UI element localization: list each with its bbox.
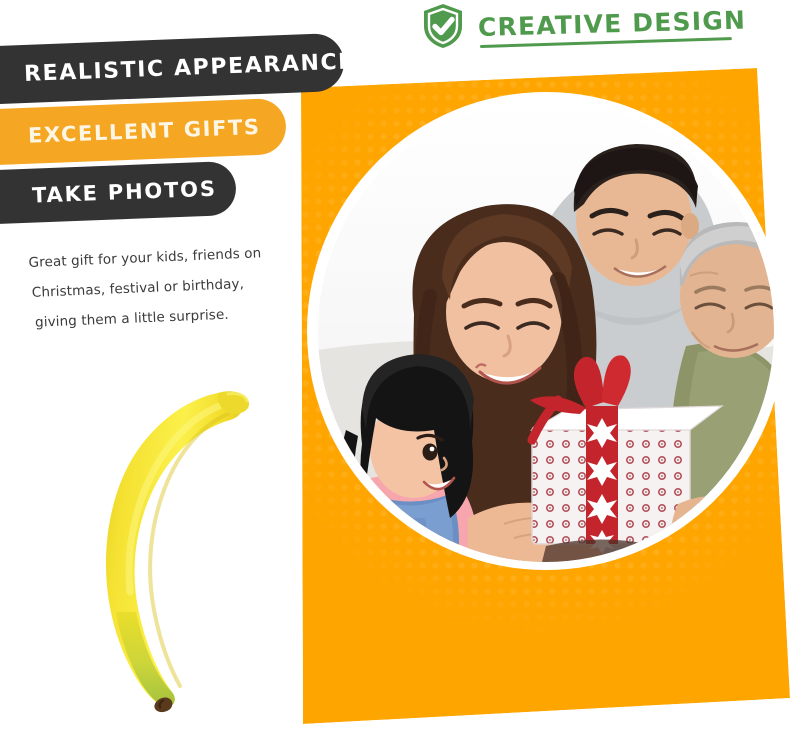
creative-design-badge: CREATIVE DESIGN <box>420 2 746 50</box>
feature-pill-realistic-appearance: REALISTIC APPEARANCE <box>0 33 345 105</box>
feature-pill-excellent-gifts: EXCELLENT GIFTS <box>0 98 287 166</box>
family-gift-photo <box>318 100 774 562</box>
product-marketing-image: CREATIVE DESIGN REALISTIC APPEARANCE EXC… <box>0 0 800 732</box>
description-text: Great gift for your kids, friends on Chr… <box>28 237 302 338</box>
shield-check-icon <box>420 2 466 50</box>
feature-pill-label: REALISTIC APPEARANCE <box>24 49 356 87</box>
artificial-banana-product <box>78 380 268 715</box>
creative-design-label: CREATIVE DESIGN <box>478 5 747 41</box>
feature-pill-take-photos: TAKE PHOTOS <box>0 161 237 225</box>
banana-illustration <box>78 380 268 715</box>
feature-pill-label: TAKE PHOTOS <box>32 177 218 208</box>
feature-pill-label: EXCELLENT GIFTS <box>28 115 261 148</box>
family-photo-illustration <box>318 100 774 562</box>
